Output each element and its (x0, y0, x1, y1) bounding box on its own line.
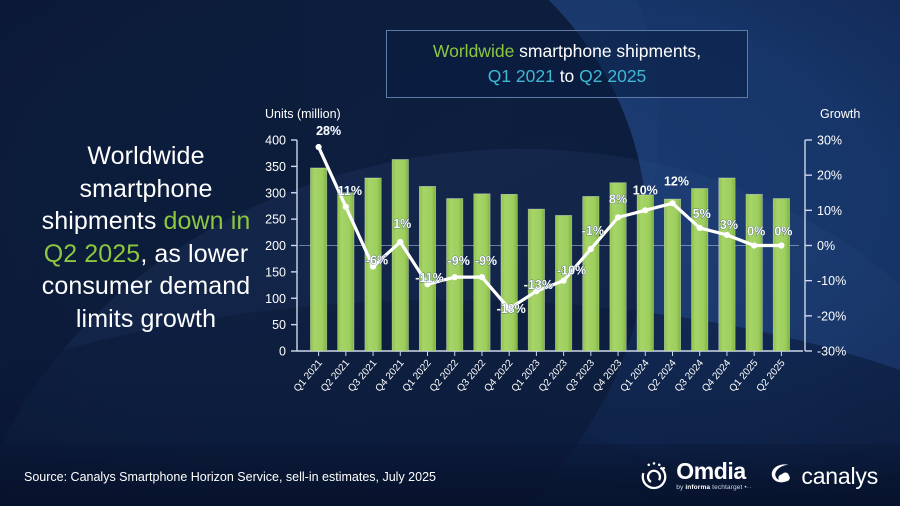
y-tick-label: 350 (265, 160, 286, 174)
bar (664, 199, 680, 351)
bar (310, 168, 326, 351)
y2-tick-label: -10% (817, 274, 846, 288)
growth-marker (615, 214, 621, 220)
growth-marker (397, 239, 403, 245)
y2-tick-label: 10% (817, 204, 842, 218)
y2-tick-label: 30% (817, 134, 842, 148)
growth-data-label: 0% (774, 225, 792, 239)
growth-marker (561, 278, 567, 284)
growth-data-label: 3% (720, 218, 738, 232)
omdia-tagline: by informa techtarget •·· (676, 485, 751, 492)
growth-marker (697, 225, 703, 231)
growth-data-label: -6% (366, 254, 388, 268)
growth-data-label: 1% (393, 217, 411, 231)
y-tick-label: 150 (265, 265, 286, 279)
bar (746, 194, 762, 351)
y2-axis-title: Growth (820, 107, 860, 121)
growth-data-label: -9% (475, 254, 497, 268)
growth-marker (452, 274, 458, 280)
omdia-tagline-bold: informa (685, 484, 710, 491)
canalys-mark-icon (767, 460, 794, 492)
growth-marker (778, 242, 784, 248)
growth-data-label: -1% (582, 224, 604, 238)
slide-canvas: Worldwide smartphone shipments down in Q… (0, 0, 900, 506)
growth-data-label: 0% (747, 225, 765, 239)
y-tick-label: 200 (265, 239, 286, 253)
growth-data-label: -9% (448, 254, 470, 268)
y2-tick-label: -30% (817, 345, 846, 359)
y2-tick-label: 20% (817, 169, 842, 183)
growth-data-label: -13% (524, 278, 553, 292)
growth-marker (669, 200, 675, 206)
logo-group: Omdia by informa techtarget •·· canalys (639, 460, 878, 492)
growth-marker (588, 246, 594, 252)
canalys-logo: canalys (767, 460, 878, 492)
growth-data-label: 5% (693, 207, 711, 221)
bar (773, 199, 789, 351)
y-tick-label: 0 (279, 345, 286, 359)
omdia-mark-icon (639, 461, 669, 491)
y2-tick-label: 0% (817, 239, 835, 253)
growth-data-label: 11% (338, 184, 362, 198)
growth-data-label: 10% (633, 183, 658, 197)
x-tick-label: Q2 2025 (755, 358, 788, 395)
growth-marker (479, 274, 485, 280)
growth-data-label: 12% (664, 174, 689, 188)
growth-data-label: -10% (557, 264, 586, 278)
bar (392, 160, 408, 351)
growth-marker (316, 144, 322, 150)
bar (501, 194, 517, 351)
x-axis: Q1 2021Q2 2021Q3 2021Q4 2021Q1 2022Q2 20… (292, 351, 788, 394)
bar (719, 178, 735, 351)
growth-marker (751, 242, 757, 248)
growth-data-label: -18% (497, 302, 526, 316)
combo-chart: Units (million) Growth 05010015020025030… (0, 0, 900, 440)
y-tick-label: 50 (272, 318, 286, 332)
y-tick-label: 300 (265, 186, 286, 200)
bar (610, 183, 626, 351)
y-axis-title: Units (million) (265, 107, 341, 121)
growth-data-label: 8% (609, 192, 627, 206)
omdia-logo: Omdia by informa techtarget •·· (639, 460, 751, 492)
omdia-tagline-post: techtarget (710, 484, 742, 491)
growth-data-label: 28% (316, 124, 341, 138)
y2-tick-label: -20% (817, 309, 846, 323)
growth-marker (642, 207, 648, 213)
y-tick-label: 100 (265, 292, 286, 306)
growth-marker (724, 232, 730, 238)
bar (474, 194, 490, 351)
omdia-name: Omdia (676, 460, 751, 483)
omdia-wordmark: Omdia by informa techtarget •·· (676, 460, 751, 492)
y-tick-label: 250 (265, 213, 286, 227)
growth-marker (343, 204, 349, 210)
bar (419, 186, 435, 351)
growth-data-label: -11% (415, 271, 444, 285)
y-tick-label: 400 (265, 134, 286, 148)
bar (637, 195, 653, 351)
source-note: Source: Canalys Smartphone Horizon Servi… (24, 470, 436, 484)
omdia-tagline-pre: by (676, 484, 685, 491)
y2-axis: -30%-20%-10%0%10%20%30% (805, 134, 846, 359)
canalys-name: canalys (801, 463, 878, 490)
